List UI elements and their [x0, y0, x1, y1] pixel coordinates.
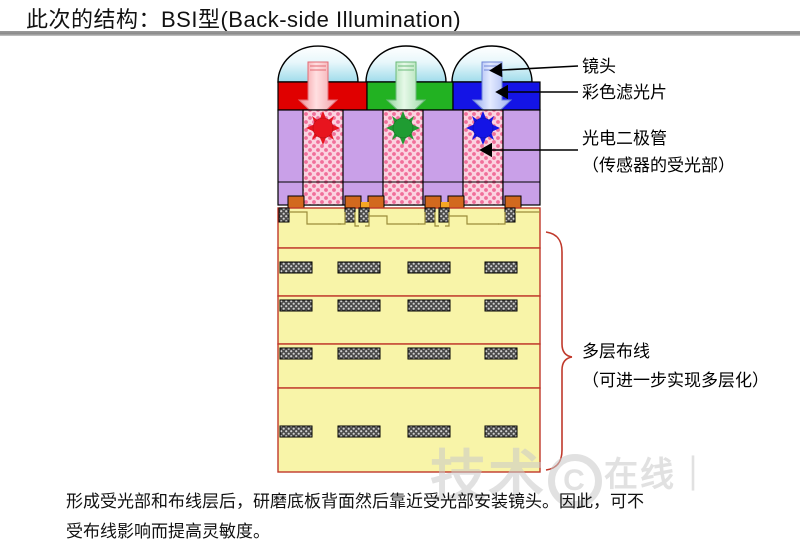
label-lens: 镜头: [582, 56, 616, 79]
label-photodiode: 光电二极管: [582, 128, 667, 151]
wiring-layer-3: [278, 296, 540, 344]
label-multilayer-wiring: 多层布线: [582, 341, 650, 364]
wiring-layer-1: [278, 208, 540, 248]
label-color-filter: 彩色滤光片: [582, 82, 667, 105]
wiring-brace: [546, 232, 572, 470]
label-photodiode-sub: （传感器的受光部）: [582, 155, 735, 178]
caption: 形成受光部和布线层后，研磨底板背面然后靠近受光部安装镜头。因此，可不 受布线影响…: [66, 487, 766, 547]
wiring-layer-5: [278, 388, 540, 472]
caption-line-2: 受布线影响而提高灵敏度。: [66, 517, 766, 547]
caption-line-1: 形成受光部和布线层后，研磨底板背面然后靠近受光部安装镜头。因此，可不: [66, 487, 766, 517]
wiring-layer-4: [278, 344, 540, 388]
wiring-layer-2: [278, 248, 540, 296]
label-wiring-sub: （可进一步实现多层化）: [582, 370, 769, 393]
bsi-sensor-cross-section-diagram: [0, 0, 800, 490]
